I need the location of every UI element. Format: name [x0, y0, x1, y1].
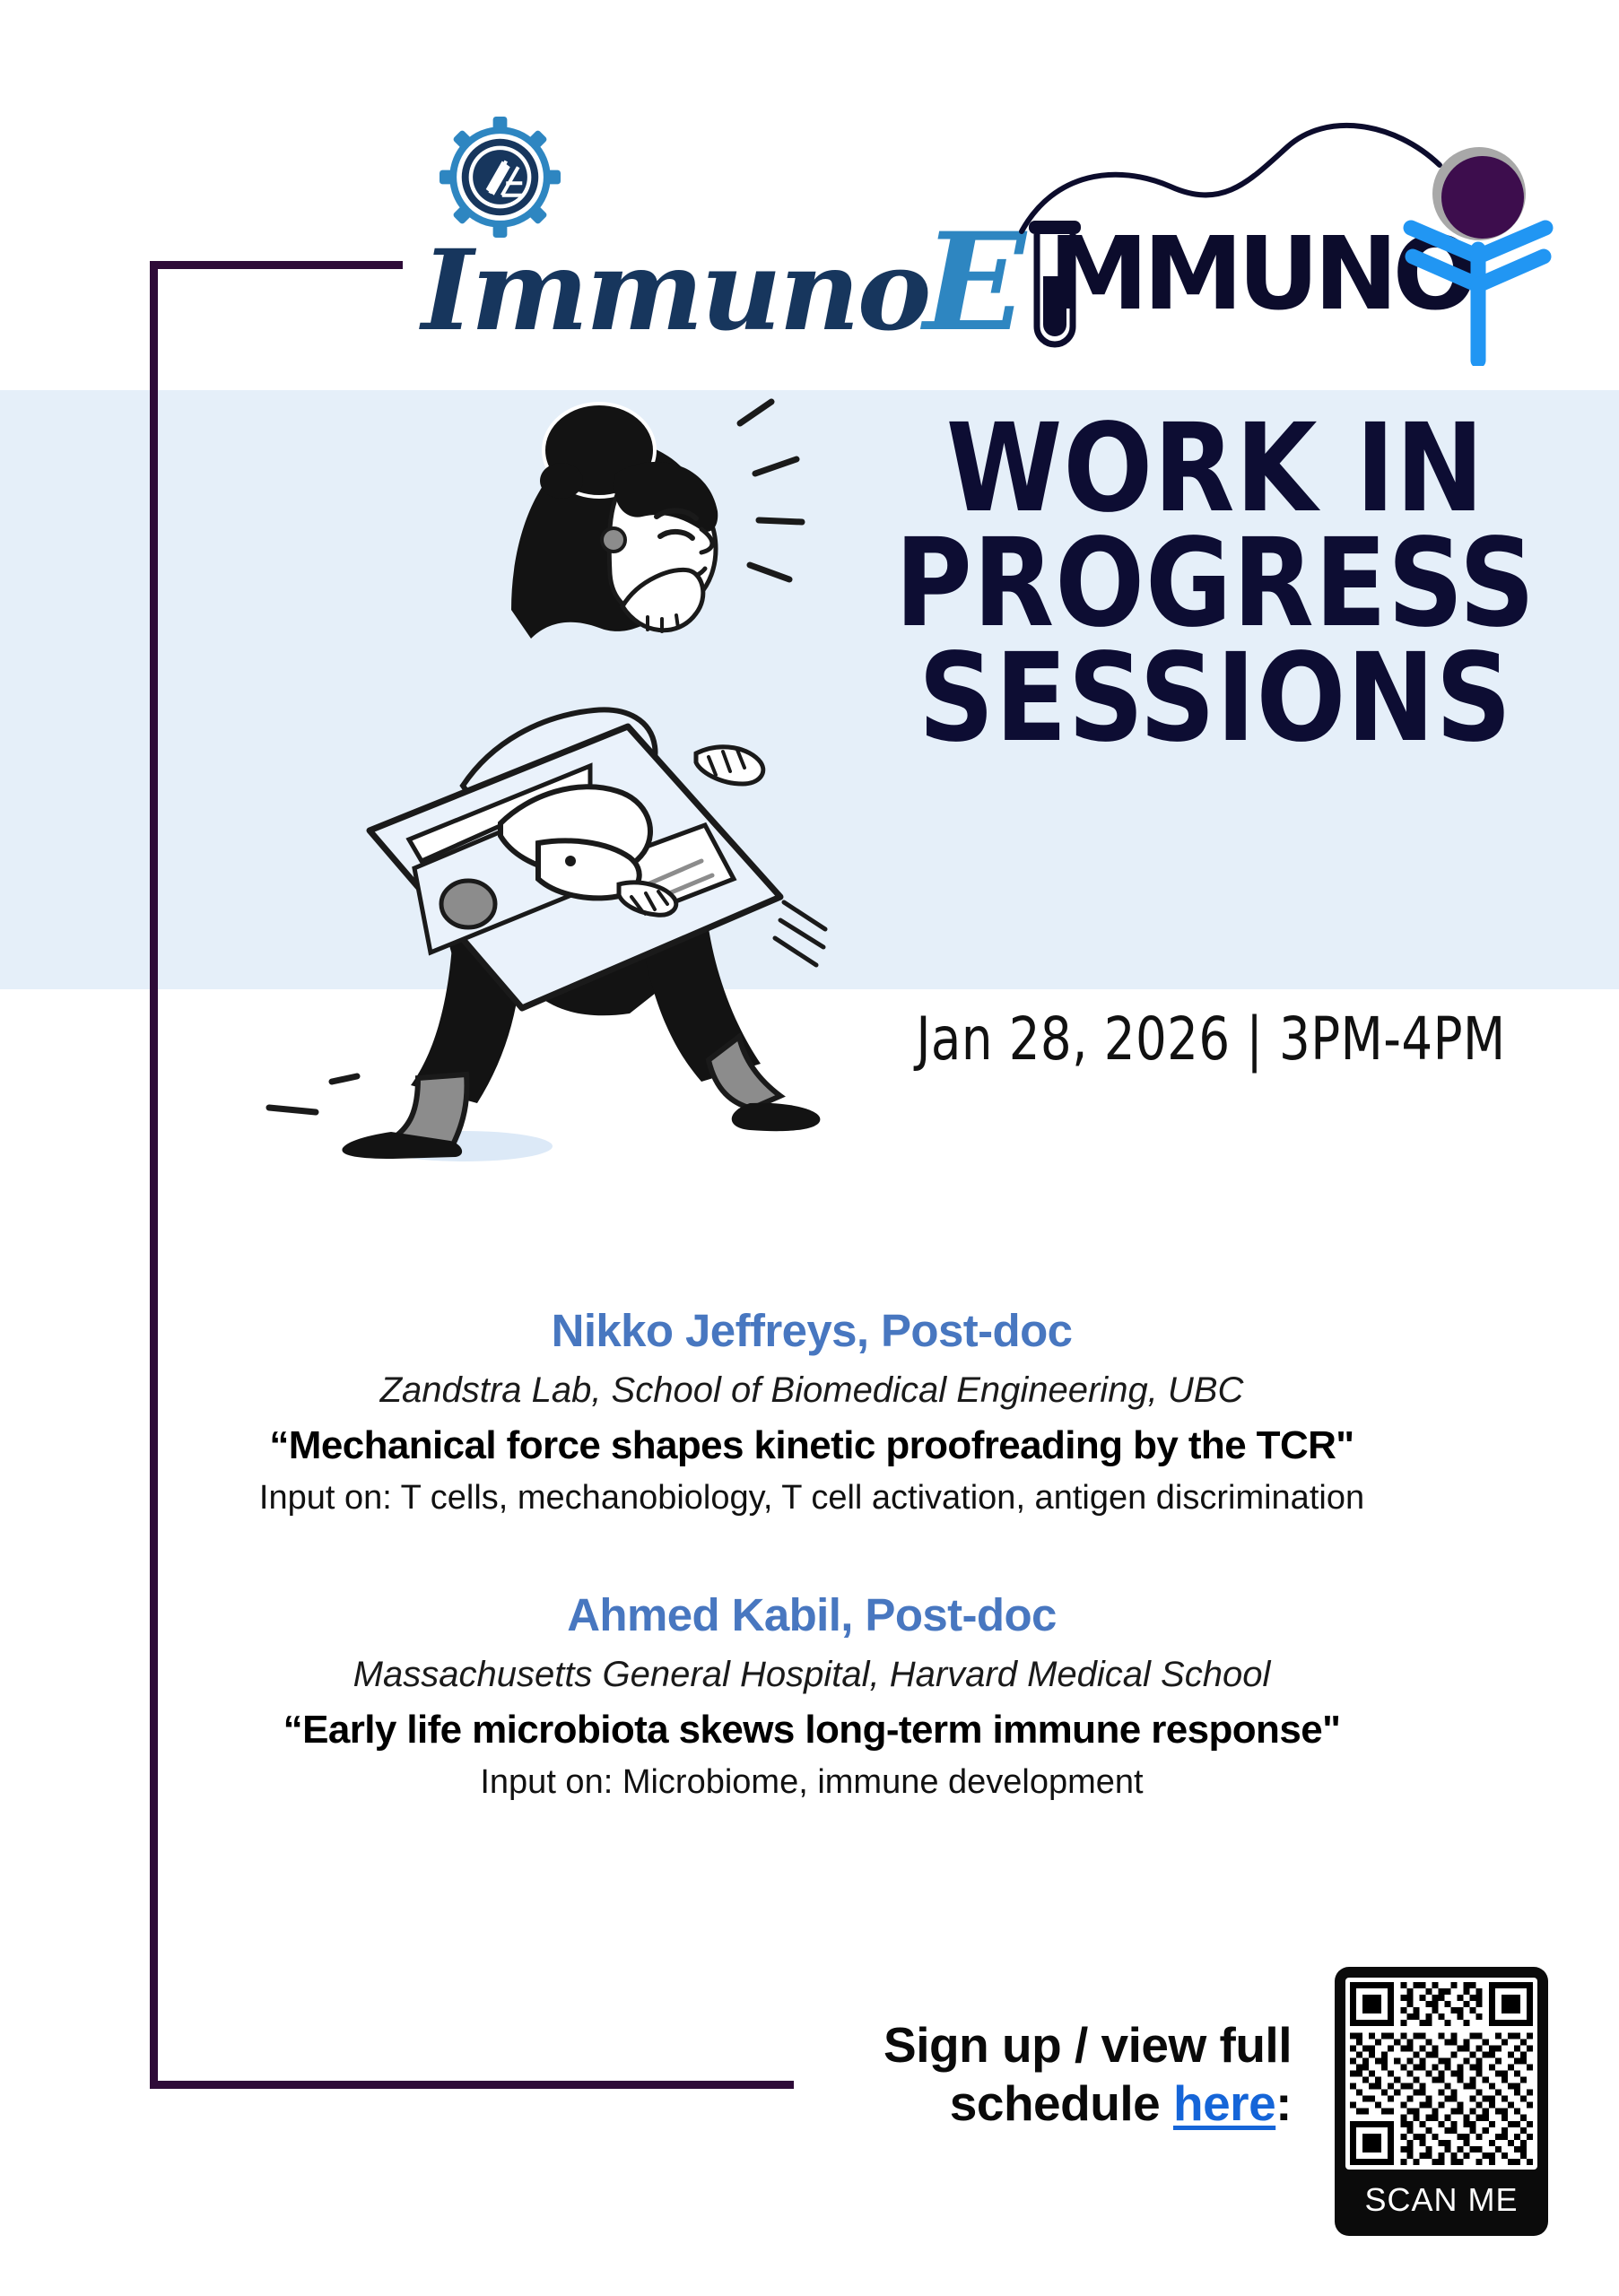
- speaker-input-topics: Input on: Microbiome, immune development: [108, 1762, 1516, 1804]
- speaker-name: Ahmed Kabil, Post-doc: [108, 1589, 1516, 1642]
- qr-code-image[interactable]: [1345, 1978, 1537, 2170]
- speaker-affiliation: Massachusetts General Hospital, Harvard …: [108, 1653, 1516, 1696]
- speaker-entry: Nikko Jeffreys, Post-doc Zandstra Lab, S…: [108, 1305, 1516, 1519]
- speaker-name: Nikko Jeffreys, Post-doc: [108, 1305, 1516, 1358]
- speaker-input-topics: Input on: T cells, mechanobiology, T cel…: [108, 1478, 1516, 1519]
- signup-line-1: Sign up / view full: [771, 2016, 1292, 2074]
- headline-line-1: WORK IN: [858, 413, 1573, 527]
- immunot-logo: MMUNO: [1027, 117, 1565, 377]
- speaker-entry: Ahmed Kabil, Post-doc Massachusetts Gene…: [108, 1589, 1516, 1804]
- speaker-talk-title: “Early life microbiota skews long-term i…: [108, 1707, 1516, 1754]
- poster-headline: WORK IN PROGRESS SESSIONS: [858, 413, 1573, 756]
- immunoe-word-accent: E: [923, 204, 1023, 361]
- speaker-list: Nikko Jeffreys, Post-doc Zandstra Lab, S…: [108, 1305, 1516, 1874]
- immunoe-logo: ImmunoE: [422, 117, 987, 377]
- event-datetime: Jan 28, 2026 | 3PM-4PM: [840, 1004, 1582, 1074]
- signup-line-2-prefix: schedule: [950, 2075, 1173, 2131]
- speaker-affiliation: Zandstra Lab, School of Biomedical Engin…: [108, 1369, 1516, 1412]
- schedule-link[interactable]: here: [1173, 2075, 1275, 2131]
- headline-line-3: SESSIONS: [858, 642, 1573, 757]
- scan-me-label: SCAN ME: [1364, 2181, 1518, 2219]
- signup-callout: Sign up / view full schedule here:: [771, 2016, 1292, 2133]
- immunoe-word-main: Immuno: [422, 226, 928, 356]
- bracket-bottom-line: [150, 2081, 794, 2089]
- woman-carrying-monitor-illustration: [242, 395, 834, 1247]
- logo-row: ImmunoE MMUNO: [0, 99, 1619, 377]
- headline-line-2: PROGRESS: [858, 527, 1573, 642]
- poster-canvas: ImmunoE MMUNO: [0, 0, 1619, 2296]
- qr-code-block[interactable]: SCAN ME: [1335, 1967, 1548, 2236]
- signup-line-2: schedule here:: [771, 2074, 1292, 2133]
- speaker-talk-title: “Mechanical force shapes kinetic proofre…: [108, 1422, 1516, 1470]
- antibody-icon: [1393, 142, 1563, 366]
- immunoe-wordmark: ImmunoE: [422, 215, 996, 350]
- signup-line-2-suffix: :: [1275, 2075, 1292, 2131]
